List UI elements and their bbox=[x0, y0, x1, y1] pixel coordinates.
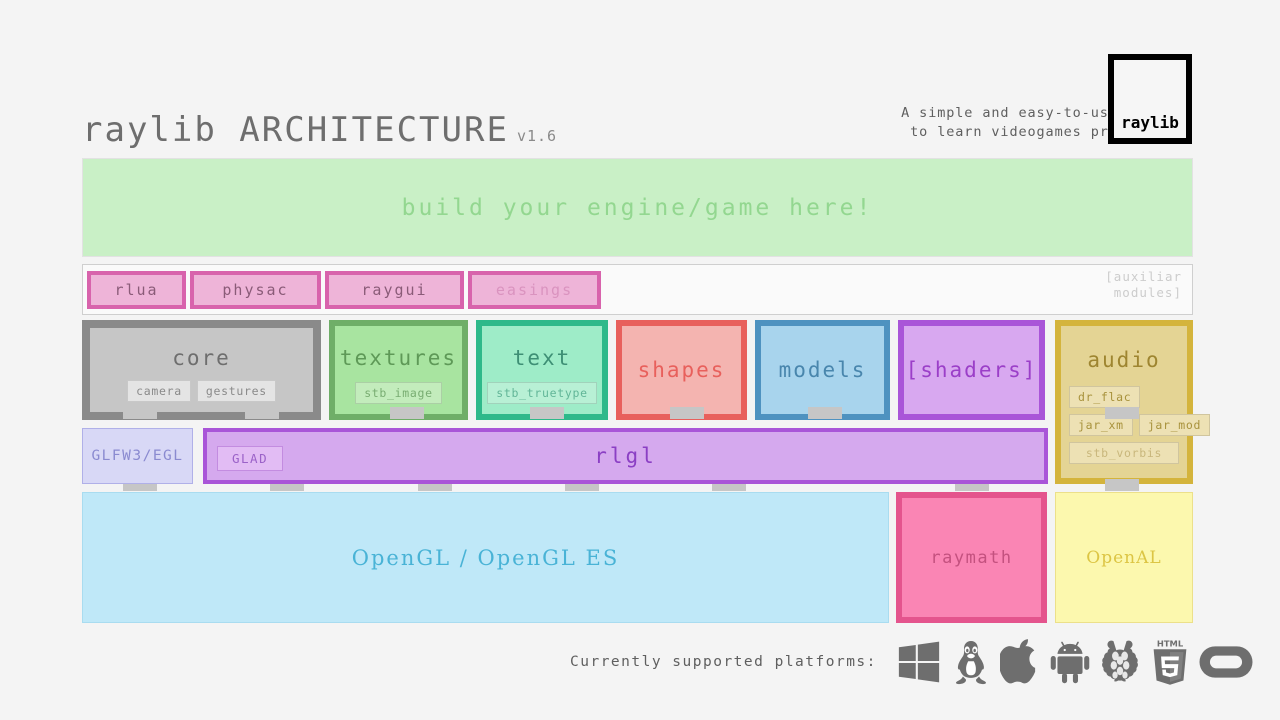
sub-module-jar_mod: jar_mod bbox=[1139, 414, 1210, 436]
module-textures[interactable]: texturesstb_image bbox=[329, 320, 468, 420]
linux-icon bbox=[950, 639, 992, 689]
rlgl-label: rlgl bbox=[594, 444, 657, 468]
aux-module-physac[interactable]: physac bbox=[190, 271, 321, 309]
connector-tab bbox=[670, 407, 704, 419]
apple-icon bbox=[1000, 639, 1042, 689]
sub-module-dr_flac: dr_flac bbox=[1069, 386, 1140, 408]
svg-text:HTML: HTML bbox=[1157, 639, 1184, 649]
version-label: v1.6 bbox=[517, 127, 557, 145]
module-audio[interactable]: audiodr_flacjar_xmjar_modstb_vorbis bbox=[1055, 320, 1193, 484]
module-title: textures bbox=[343, 334, 454, 382]
connector-tab bbox=[1105, 407, 1139, 419]
sub-module-stb_vorbis: stb_vorbis bbox=[1069, 442, 1179, 464]
connector-tab bbox=[530, 407, 564, 419]
supported-platforms-label: Currently supported platforms: bbox=[570, 654, 877, 670]
page-title: raylib ARCHITECTUREv1.6 bbox=[82, 110, 557, 150]
opengl-box: OpenGL / OpenGL ES bbox=[82, 492, 889, 623]
connector-tab bbox=[1105, 479, 1139, 491]
raymath-label: raymath bbox=[930, 548, 1012, 568]
oculus-icon bbox=[1198, 641, 1254, 687]
module-title: audio bbox=[1069, 334, 1179, 386]
module-shaders[interactable]: [shaders] bbox=[898, 320, 1045, 420]
glfw3-egl-label: GLFW3/EGL bbox=[91, 448, 183, 464]
module-core[interactable]: corecameragestures bbox=[82, 320, 321, 420]
sub-module-camera: camera bbox=[127, 380, 191, 402]
aux-module-easings[interactable]: easings bbox=[468, 271, 601, 309]
auxiliar-modules-label: [auxiliar modules] bbox=[1105, 269, 1182, 301]
page-title-text: raylib ARCHITECTURE bbox=[82, 110, 509, 150]
windows-icon bbox=[896, 639, 942, 689]
connector-tab bbox=[808, 407, 842, 419]
glfw3-egl-box: GLFW3/EGL bbox=[82, 428, 193, 484]
raylib-logo-text: raylib bbox=[1121, 113, 1179, 138]
module-models[interactable]: models bbox=[755, 320, 890, 420]
build-banner-label: build your engine/game here! bbox=[402, 195, 874, 221]
module-title: text bbox=[490, 334, 594, 382]
openal-label: OpenAL bbox=[1086, 548, 1161, 568]
architecture-diagram: raylib ARCHITECTUREv1.6 A simple and eas… bbox=[0, 0, 1280, 720]
raymath-box: raymath bbox=[896, 492, 1047, 623]
aux-module-rlua[interactable]: rlua bbox=[87, 271, 186, 309]
module-title: models bbox=[769, 334, 876, 406]
opengl-label: OpenGL / OpenGL ES bbox=[352, 546, 619, 570]
connector-tab bbox=[390, 407, 424, 419]
sub-module-stb_truetype: stb_truetype bbox=[487, 382, 596, 404]
module-title: [shaders] bbox=[912, 334, 1031, 406]
openal-box: OpenAL bbox=[1055, 492, 1193, 623]
connector-tab bbox=[123, 407, 157, 419]
connector-tab bbox=[245, 407, 279, 419]
module-title: core bbox=[98, 336, 305, 380]
module-shapes[interactable]: shapes bbox=[616, 320, 747, 420]
aux-module-raygui[interactable]: raygui bbox=[325, 271, 464, 309]
raspberrypi-icon bbox=[1098, 639, 1142, 689]
auxiliar-modules-row: rluaphysacrayguieasings [auxiliar module… bbox=[82, 264, 1193, 315]
platform-icons: HTML bbox=[896, 638, 1254, 690]
sub-module-gestures: gestures bbox=[197, 380, 276, 402]
html5-icon: HTML bbox=[1150, 638, 1190, 690]
build-your-game-banner: build your engine/game here! bbox=[82, 158, 1193, 257]
module-text[interactable]: textstb_truetype bbox=[476, 320, 608, 420]
module-title: shapes bbox=[630, 334, 733, 406]
raylib-logo: raylib bbox=[1108, 54, 1192, 144]
android-icon bbox=[1050, 639, 1090, 689]
glad-box: GLAD bbox=[217, 446, 283, 471]
sub-module-stb_image: stb_image bbox=[355, 382, 442, 404]
rlgl-box: GLAD rlgl bbox=[203, 428, 1048, 484]
